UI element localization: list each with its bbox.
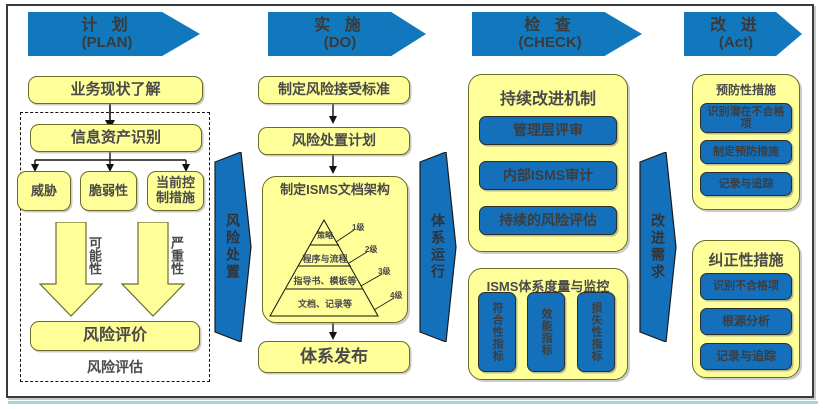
frame-underline <box>8 401 818 404</box>
act-preventive-measures-title: 预防性措施 <box>693 81 799 98</box>
check-metric-loss-box: 损失性指标 <box>577 292 615 372</box>
risk-assessment-region-label: 风险评估 <box>20 357 210 377</box>
check-internal-isms-audit-box: 内部ISMS审计 <box>479 161 617 190</box>
phase-label-cn: 实 施 <box>314 17 365 34</box>
do-system-release-box: 体系发布 <box>258 341 410 373</box>
plan-asset-identification-box: 信息资产识别 <box>30 124 202 152</box>
plan-factor-vulnerability-box: 脆弱性 <box>80 171 137 211</box>
do-isms-doc-architecture-title: 制定ISMS文档架构 <box>263 183 407 197</box>
check-management-review-box: 管理层评审 <box>479 116 617 145</box>
plan-severity-arrow: 严重性 <box>120 222 186 318</box>
do-risk-acceptance-criteria-box: 制定风险接受标准 <box>258 76 410 104</box>
phase-label-cn: 计 划 <box>81 17 132 34</box>
phase-label-en: (Act) <box>710 35 761 51</box>
check-metric-efficiency-box: 效能指标 <box>527 292 565 372</box>
check-metric-compliance-box: 符合性指标 <box>478 292 516 372</box>
act-record-and-track-box: 记录与追踪 <box>700 172 792 196</box>
connector-risk-treatment: 风险处置 <box>213 152 253 342</box>
act-define-preventive-measures-box: 制定预防措施 <box>700 140 792 164</box>
phase-label-cn: 检 查 <box>518 17 581 34</box>
pyramid-level-3-name: 指导书、模板等 <box>272 274 378 287</box>
pyramid-level-2-name: 程序与流程 <box>279 252 371 265</box>
plan-likelihood-arrow: 可能性 <box>38 222 104 318</box>
check-continuous-risk-assessment-box: 持续的风险评估 <box>479 206 617 235</box>
connector-system-operation: 体系运行 <box>418 152 458 342</box>
act-identify-nonconformity-box: 识别不合格项 <box>700 273 792 300</box>
act-identify-potential-nonconformity-box: 识别潜在不合格项 <box>700 103 792 133</box>
pyramid-level-4-name: 文档、记录等 <box>274 297 376 310</box>
act-root-cause-analysis-box: 根源分析 <box>700 308 792 335</box>
pyramid-level-4-tag: 4级 <box>390 290 402 301</box>
phase-label-en: (CHECK) <box>518 35 581 51</box>
connector-improvement-requirements: 改进需求 <box>638 152 678 342</box>
plan-factor-threat-box: 威胁 <box>17 171 71 211</box>
pyramid-level-2-tag: 2级 <box>365 244 377 255</box>
plan-current-status-box: 业务现状了解 <box>28 76 203 104</box>
plan-severity-label: 严重性 <box>120 226 186 284</box>
pyramid-level-1-name: 策略 <box>296 230 354 241</box>
check-continuous-improvement-title: 持续改进机制 <box>469 85 627 109</box>
do-document-pyramid: 策略 程序与流程 指导书、模板等 文档、记录等 1级 2级 3级 4级 <box>266 216 406 320</box>
phase-label-en: (PLAN) <box>81 35 132 51</box>
do-risk-treatment-plan-box: 风险处置计划 <box>258 127 410 155</box>
plan-risk-evaluation-box: 风险评价 <box>30 321 200 351</box>
pyramid-level-3-tag: 3级 <box>378 266 390 277</box>
act-record-and-track-box-2: 记录与追踪 <box>700 343 792 370</box>
pyramid-level-1-tag: 1级 <box>352 222 364 233</box>
plan-likelihood-label: 可能性 <box>38 226 104 284</box>
phase-label-en: (DO) <box>314 35 365 51</box>
act-corrective-measures-title: 纠正性措施 <box>693 249 799 270</box>
phase-label-cn: 改 进 <box>710 17 761 34</box>
pdca-diagram-canvas: 计 划 (PLAN) 实 施 (DO) 检 查 (CHECK) 改 进 (Act… <box>0 0 823 409</box>
plan-factor-current-controls-box: 当前控制措施 <box>147 171 204 211</box>
